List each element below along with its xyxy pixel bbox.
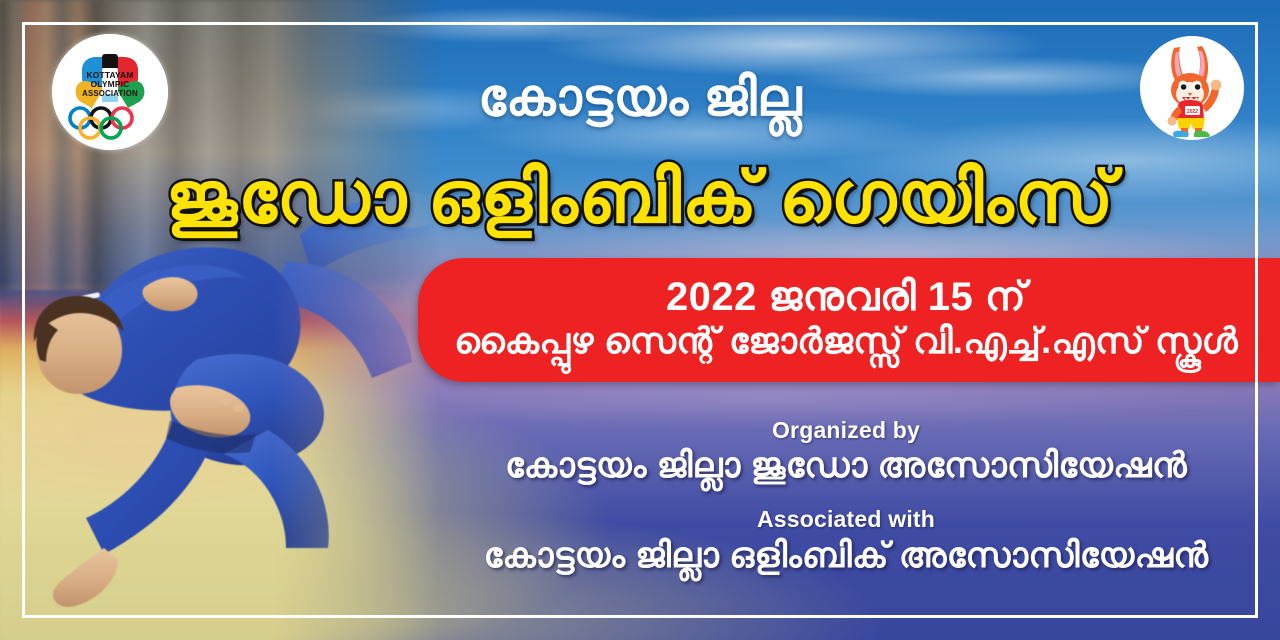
kottayam-olympic-association-logo: KOTTAYAM OLYMPIC ASSOCIATION <box>52 34 168 150</box>
svg-text:ASSOCIATION: ASSOCIATION <box>82 89 138 98</box>
event-venue: കൈപ്പുഴ സെന്റ് ജോർജസ്സ് വി.എച്ച്.എസ് സ്ക… <box>454 321 1238 361</box>
rabbit-mascot-icon: 2022 <box>1140 36 1244 140</box>
svg-text:OLYMPIC: OLYMPIC <box>91 79 130 89</box>
event-details-banner: 2022 ജനുവരി 15 ന് കൈപ്പുഴ സെന്റ് ജോർജസ്സ… <box>418 258 1280 382</box>
event-date: 2022 ജനുവരി 15 ന് <box>666 276 1026 319</box>
svg-text:2022: 2022 <box>1187 109 1198 115</box>
event-poster: KOTTAYAM OLYMPIC ASSOCIATION <box>0 0 1280 640</box>
